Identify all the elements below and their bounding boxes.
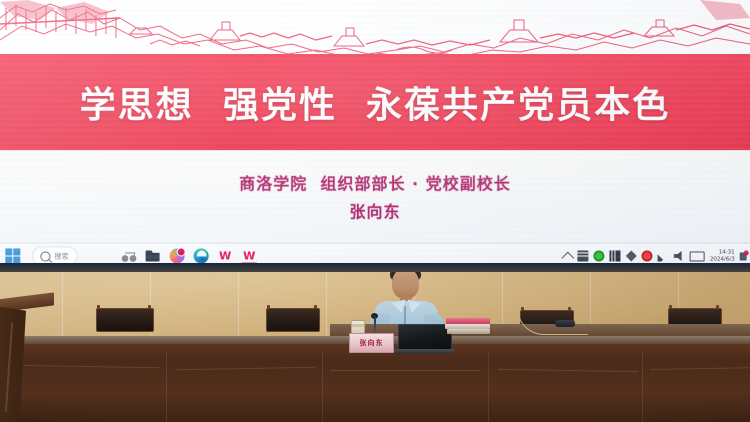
books-stack — [446, 318, 490, 336]
nameplate-text: 张向东 — [360, 338, 384, 348]
presenter-head — [392, 268, 419, 299]
chat-badge — [177, 247, 186, 256]
power-strip-body — [555, 320, 575, 327]
edge-icon[interactable] — [194, 248, 209, 263]
security-shield-icon[interactable] — [594, 250, 605, 261]
widgets-icon[interactable] — [122, 248, 137, 263]
laptop — [396, 324, 452, 354]
podium — [0, 296, 54, 422]
clock-date: 2024/6/3 — [710, 256, 735, 263]
explorer-folder-glyph — [146, 250, 160, 261]
equalizer-icon[interactable] — [610, 250, 621, 261]
book-bottom — [447, 329, 490, 334]
keyboard-input-icon[interactable] — [578, 250, 589, 261]
wps-writer-icon[interactable]: W — [218, 248, 233, 263]
slide-subtitle-name: 张向东 — [0, 198, 750, 222]
screen-bottom-bezel — [0, 263, 750, 272]
conference-room-photo: 学思想 强党性 永葆共产党员本色 商洛学院 组织部部长 · 党校副校长 张向东 … — [0, 0, 750, 422]
antivirus-icon[interactable] — [642, 250, 653, 261]
volume-icon[interactable] — [674, 250, 685, 261]
clock[interactable]: 14:31 2024/6/3 — [710, 249, 735, 262]
desk-front-panel — [0, 344, 750, 422]
slide-title-banner: 学思想 强党性 永葆共产党员本色 — [0, 54, 750, 150]
slide-main-title: 学思想 强党性 永葆共产党员本色 — [0, 54, 750, 150]
start-button[interactable] — [5, 248, 20, 263]
file-explorer-icon[interactable] — [146, 248, 161, 263]
chair-left-2 — [266, 308, 318, 330]
start-pane-1 — [5, 248, 12, 255]
search-icon — [40, 251, 50, 261]
start-pane-2 — [14, 248, 21, 255]
search-placeholder-label: 搜索 — [54, 251, 69, 261]
wps-presentation-icon[interactable]: W — [242, 249, 257, 263]
show-hidden-icons-icon[interactable] — [562, 251, 575, 264]
cable-power-strip — [545, 316, 585, 330]
chat-icon[interactable] — [170, 248, 185, 263]
battery-icon[interactable] — [690, 251, 705, 261]
wifi-icon[interactable] — [658, 250, 669, 261]
nameplate: 张向东 — [349, 333, 394, 353]
slide-subtitle-area: 商洛学院 组织部部长 · 党校副校长 张向东 — [0, 150, 750, 242]
notifications-icon[interactable] — [740, 252, 747, 260]
slide-subtitle-affiliation: 商洛学院 组织部部长 · 党校副校长 — [0, 170, 750, 194]
great-wall-illustration — [0, 0, 750, 60]
network-icon[interactable] — [626, 250, 637, 261]
projection-screen: 学思想 强党性 永葆共产党员本色 商洛学院 组织部部长 · 党校副校长 张向东 … — [0, 0, 750, 273]
laptop-keyboard-base — [394, 349, 454, 354]
podium-body — [0, 306, 26, 422]
laptop-screen — [398, 324, 452, 351]
chair-left-1 — [96, 308, 152, 330]
